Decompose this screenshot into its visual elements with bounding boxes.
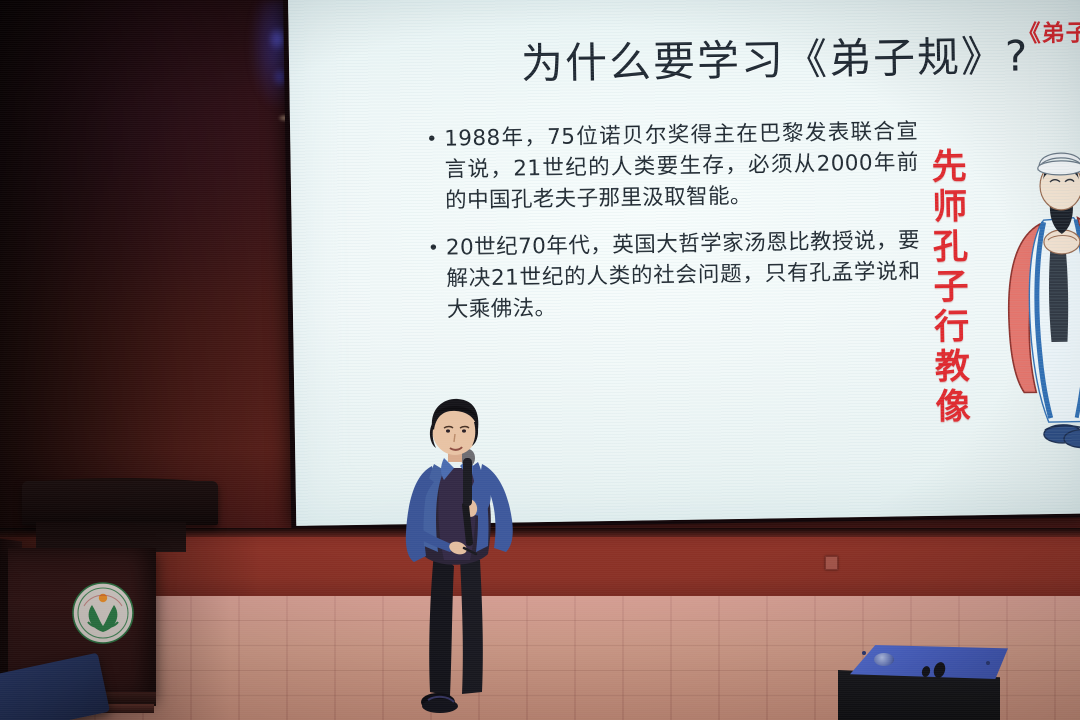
school-crest-emblem [72, 582, 134, 644]
vertical-calligraphy-caption: 先师孔子行教像 [901, 147, 967, 428]
wall-outlet-plate [825, 556, 838, 570]
list-item: • 20世纪70年代，英国大哲学家汤恩比教授说，要解决21世纪的人类的社会问题，… [430, 225, 921, 326]
confucius-illustration [980, 145, 1080, 477]
slide-title: 为什么要学习《弟子规》? [521, 32, 1042, 88]
bullet-marker-icon: • [430, 233, 446, 263]
monitor-screw-right [986, 661, 990, 665]
list-item: • 1988年，75位诺贝尔奖得主在巴黎发表联合宣言说，21世纪的人类要生存，必… [428, 116, 919, 217]
auditorium-scene: 《弟子 为什么要学习《弟子规》? • 1988年，75位诺贝尔奖得主在巴黎发表联… [0, 0, 1080, 720]
monitor-screw-left [862, 651, 866, 655]
bullet-text: 20世纪70年代，英国大哲学家汤恩比教授说，要解决21世纪的人类的社会问题，只有… [446, 225, 921, 325]
stage-monitor [838, 645, 1010, 720]
slide-bullet-list: • 1988年，75位诺贝尔奖得主在巴黎发表联合宣言说，21世纪的人类要生存，必… [428, 116, 921, 342]
lectern-top [22, 481, 218, 525]
confucius-figure-icon [980, 145, 1080, 477]
presenter-speaker [390, 396, 540, 720]
school-crest-icon [72, 582, 134, 644]
bullet-text: 1988年，75位诺贝尔奖得主在巴黎发表联合宣言说，21世纪的人类要生存，必须从… [444, 116, 919, 216]
bullet-marker-icon: • [428, 124, 444, 154]
female-speaker-figure-icon [390, 396, 540, 720]
monitor-knob [874, 653, 894, 666]
